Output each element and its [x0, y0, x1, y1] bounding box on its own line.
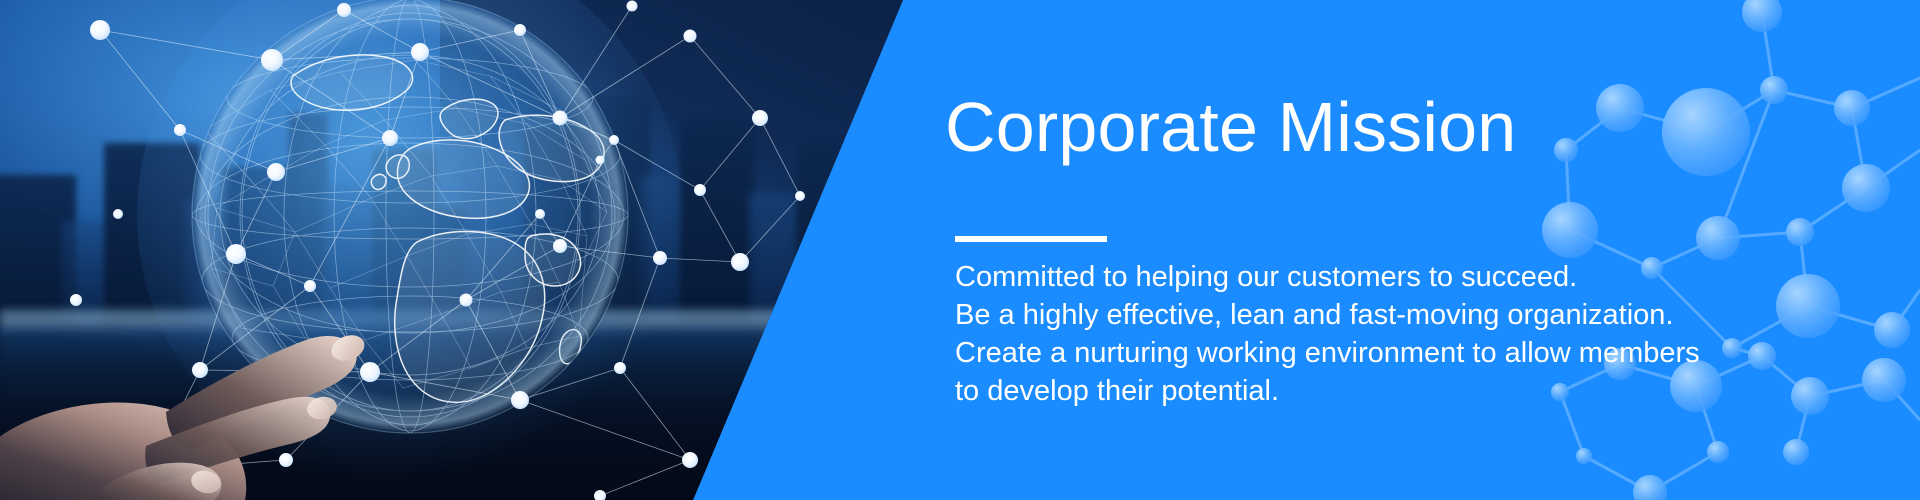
- page-title: Corporate Mission: [945, 92, 1516, 162]
- human-hand: [0, 260, 400, 500]
- mission-line: Committed to helping our customers to su…: [955, 258, 1700, 296]
- title-divider: [955, 236, 1107, 242]
- corporate-mission-banner: Corporate Mission Committed to helping o…: [0, 0, 1920, 500]
- mission-line: Create a nurturing working environment t…: [955, 334, 1700, 372]
- mission-statement: Committed to helping our customers to su…: [955, 258, 1700, 410]
- mission-line: Be a highly effective, lean and fast-mov…: [955, 296, 1700, 334]
- hero-photo: [0, 0, 920, 500]
- mission-content: Corporate Mission Committed to helping o…: [945, 0, 1745, 500]
- mission-line: to develop their potential.: [955, 372, 1700, 410]
